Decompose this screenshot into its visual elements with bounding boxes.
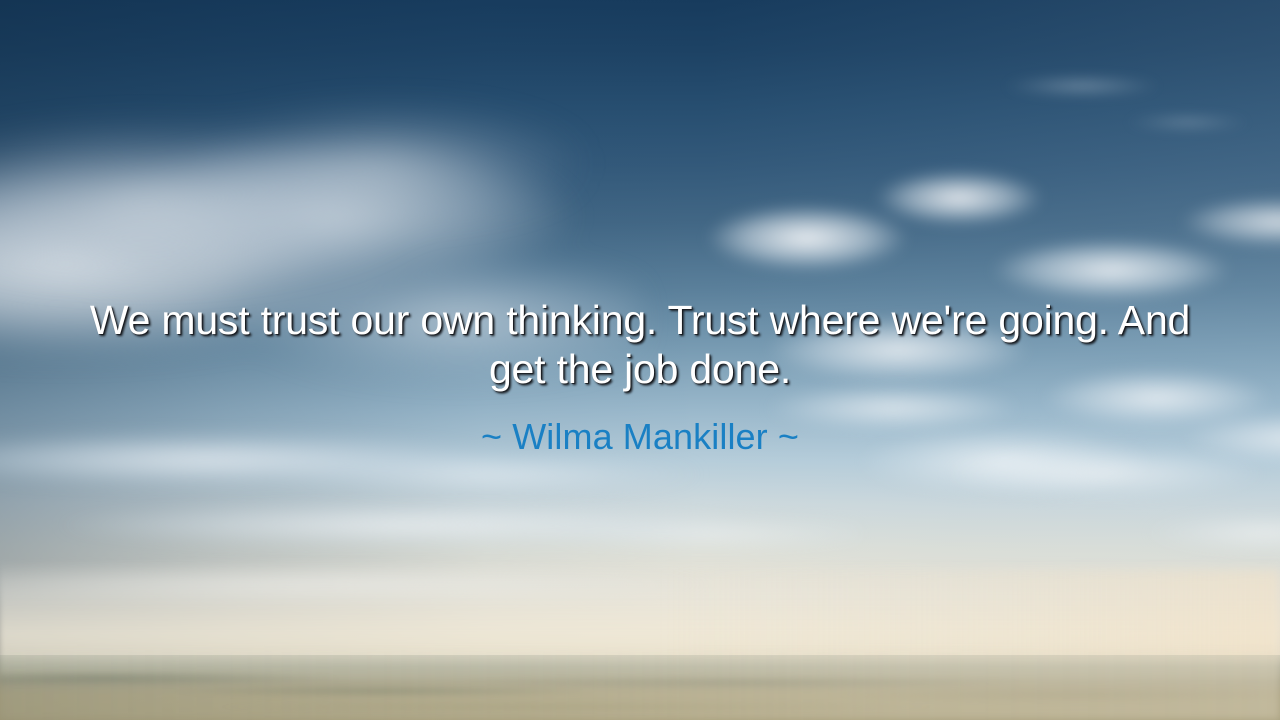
quote-author: ~ Wilma Mankiller ~: [80, 416, 1200, 458]
quote-block: We must trust our own thinking. Trust wh…: [80, 296, 1200, 458]
quote-wallpaper: We must trust our own thinking. Trust wh…: [0, 0, 1280, 720]
quote-text: We must trust our own thinking. Trust wh…: [80, 296, 1200, 394]
cloud-wisp-upper-right: [950, 30, 1280, 170]
cloud-mass-upper-left-secondary: [0, 60, 580, 320]
landscape-haze-overlay: [0, 652, 1280, 720]
